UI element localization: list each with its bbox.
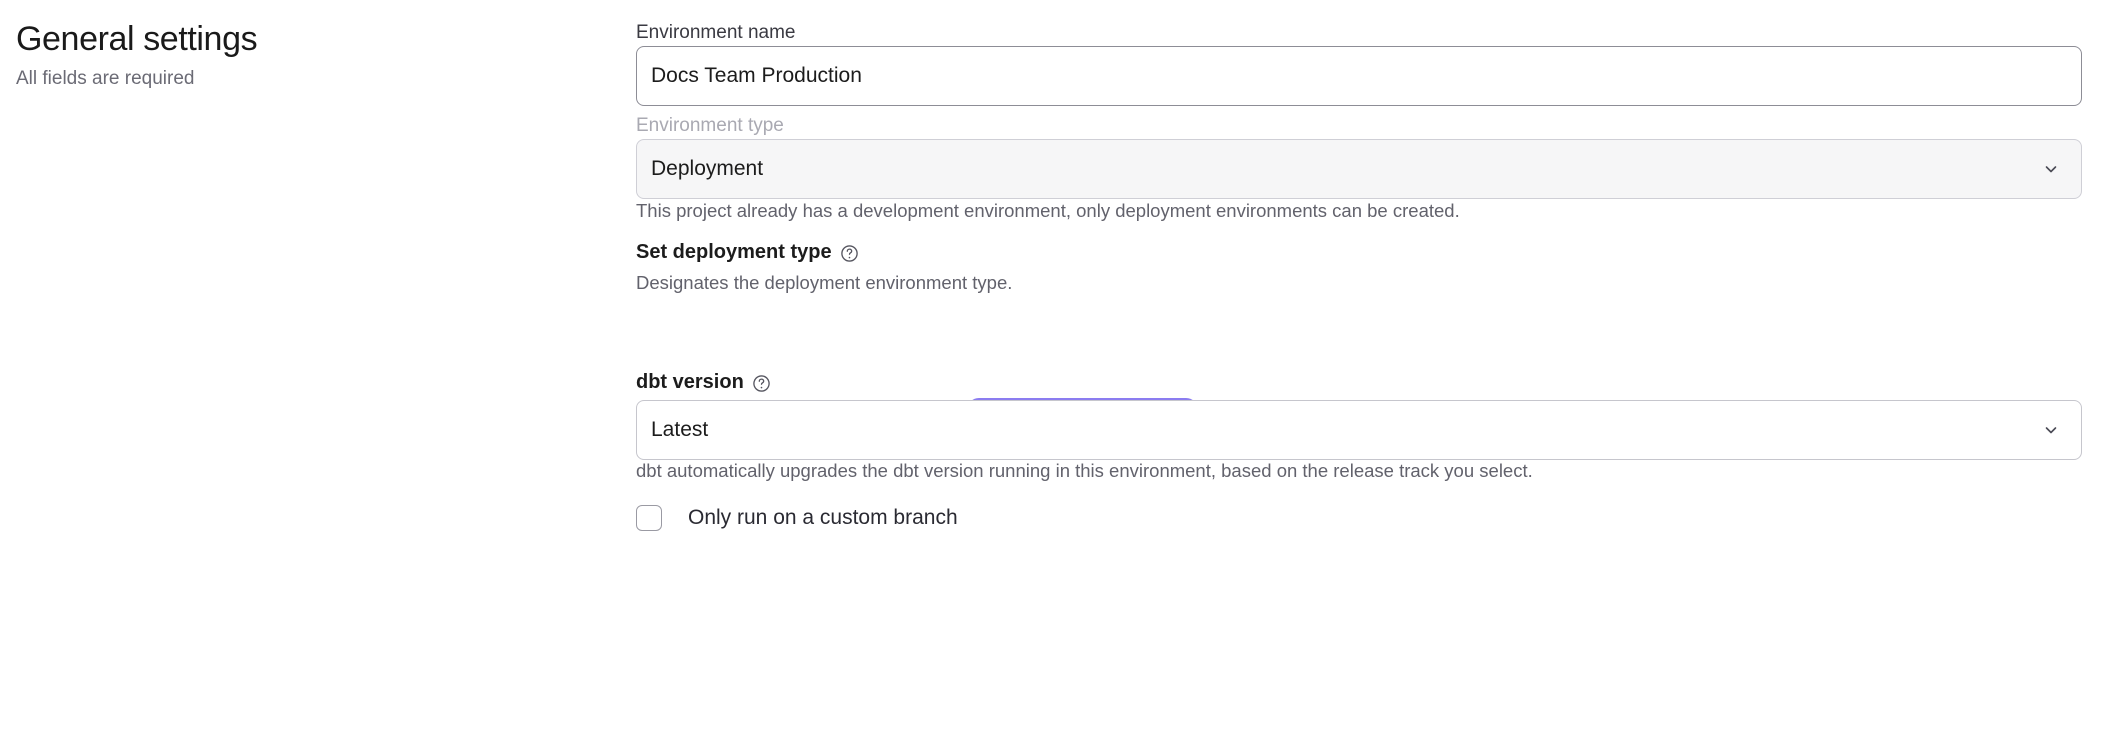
dbt-version-select[interactable]: Latest bbox=[636, 400, 2082, 460]
environment-name-input[interactable]: Docs Team Production bbox=[636, 46, 2082, 106]
dbt-version-help-text: dbt automatically upgrades the dbt versi… bbox=[636, 458, 1533, 484]
environment-type-value: Deployment bbox=[651, 157, 763, 181]
dbt-version-heading-wrap: dbt version bbox=[636, 368, 771, 396]
chevron-down-icon bbox=[2043, 422, 2059, 438]
page-title: General settings bbox=[16, 18, 576, 60]
deployment-type-heading: Set deployment type bbox=[636, 238, 859, 266]
dbt-version-value: Latest bbox=[651, 418, 708, 442]
help-circle-icon[interactable] bbox=[840, 244, 859, 263]
environment-type-help-text: This project already has a development e… bbox=[636, 198, 1460, 224]
settings-header: General settings All fields are required bbox=[16, 18, 576, 92]
environment-name-label: Environment name bbox=[636, 22, 795, 43]
dbt-version-heading-label: dbt version bbox=[636, 368, 744, 396]
dbt-version-heading: dbt version bbox=[636, 368, 771, 396]
environment-name-value: Docs Team Production bbox=[651, 64, 862, 88]
environment-name-label-wrap: Environment name bbox=[636, 20, 795, 46]
environment-type-label-wrap: Environment type bbox=[636, 113, 784, 139]
chevron-down-icon bbox=[2043, 161, 2059, 177]
custom-branch-row: Only run on a custom branch bbox=[636, 505, 958, 531]
deployment-type-heading-wrap: Set deployment type bbox=[636, 238, 859, 266]
help-circle-icon[interactable] bbox=[752, 374, 771, 393]
custom-branch-label: Only run on a custom branch bbox=[688, 506, 958, 530]
deployment-type-description-wrap: Designates the deployment environment ty… bbox=[636, 270, 1012, 296]
environment-type-help-wrap: This project already has a development e… bbox=[636, 198, 1460, 224]
custom-branch-checkbox[interactable] bbox=[636, 505, 662, 531]
deployment-type-description: Designates the deployment environment ty… bbox=[636, 270, 1012, 296]
dbt-version-help-wrap: dbt automatically upgrades the dbt versi… bbox=[636, 458, 1533, 484]
deployment-type-heading-label: Set deployment type bbox=[636, 238, 832, 266]
environment-type-label: Environment type bbox=[636, 115, 784, 136]
page-subtitle: All fields are required bbox=[16, 66, 576, 92]
environment-type-select[interactable]: Deployment bbox=[636, 139, 2082, 199]
